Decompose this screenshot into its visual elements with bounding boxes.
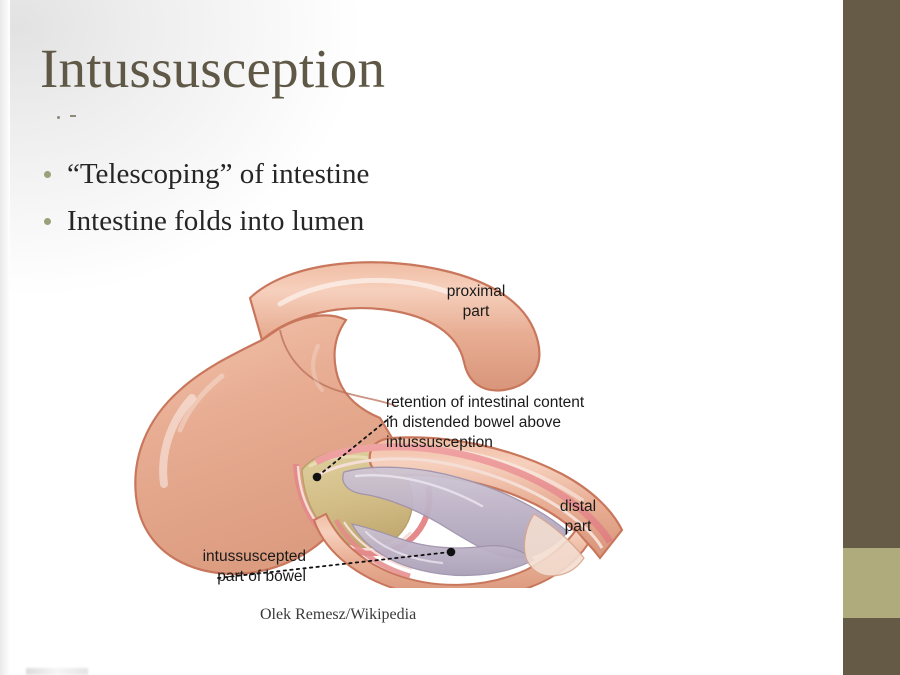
leader-dot-retention (313, 473, 322, 482)
label-intussuscepted-part-of-bowel: intussuscepted part of bowel (188, 547, 306, 587)
page-title: Intussusception (40, 40, 385, 98)
image-credit: Olek Remesz/Wikipedia (260, 606, 416, 624)
title-underline-specks (57, 112, 87, 120)
bullet-list: “Telescoping” of intestine Intestine fol… (44, 156, 604, 250)
bullet-text: Intestine folds into lumen (67, 203, 364, 240)
leader-dot-intussuscepted (447, 548, 456, 557)
bullet-dot-icon (44, 218, 51, 225)
sidebar-band-accent (843, 548, 900, 618)
list-item: “Telescoping” of intestine (44, 156, 604, 193)
bullet-text: “Telescoping” of intestine (67, 156, 369, 193)
label-retention-of-intestinal-content: retention of intestinal content in diste… (386, 393, 584, 452)
sidebar-band-top (843, 0, 900, 548)
label-proximal-part: proximal part (438, 282, 514, 322)
label-distal-part: distal part (548, 497, 608, 537)
slide-canvas: Intussusception “Telescoping” of intesti… (0, 0, 900, 675)
list-item: Intestine folds into lumen (44, 203, 604, 240)
sidebar-band-bottom (843, 618, 900, 675)
slide-sidebar-decoration (843, 0, 900, 675)
slide-left-edge-shading (0, 0, 10, 675)
bullet-dot-icon (44, 171, 51, 178)
bottom-left-artifact (26, 668, 88, 675)
